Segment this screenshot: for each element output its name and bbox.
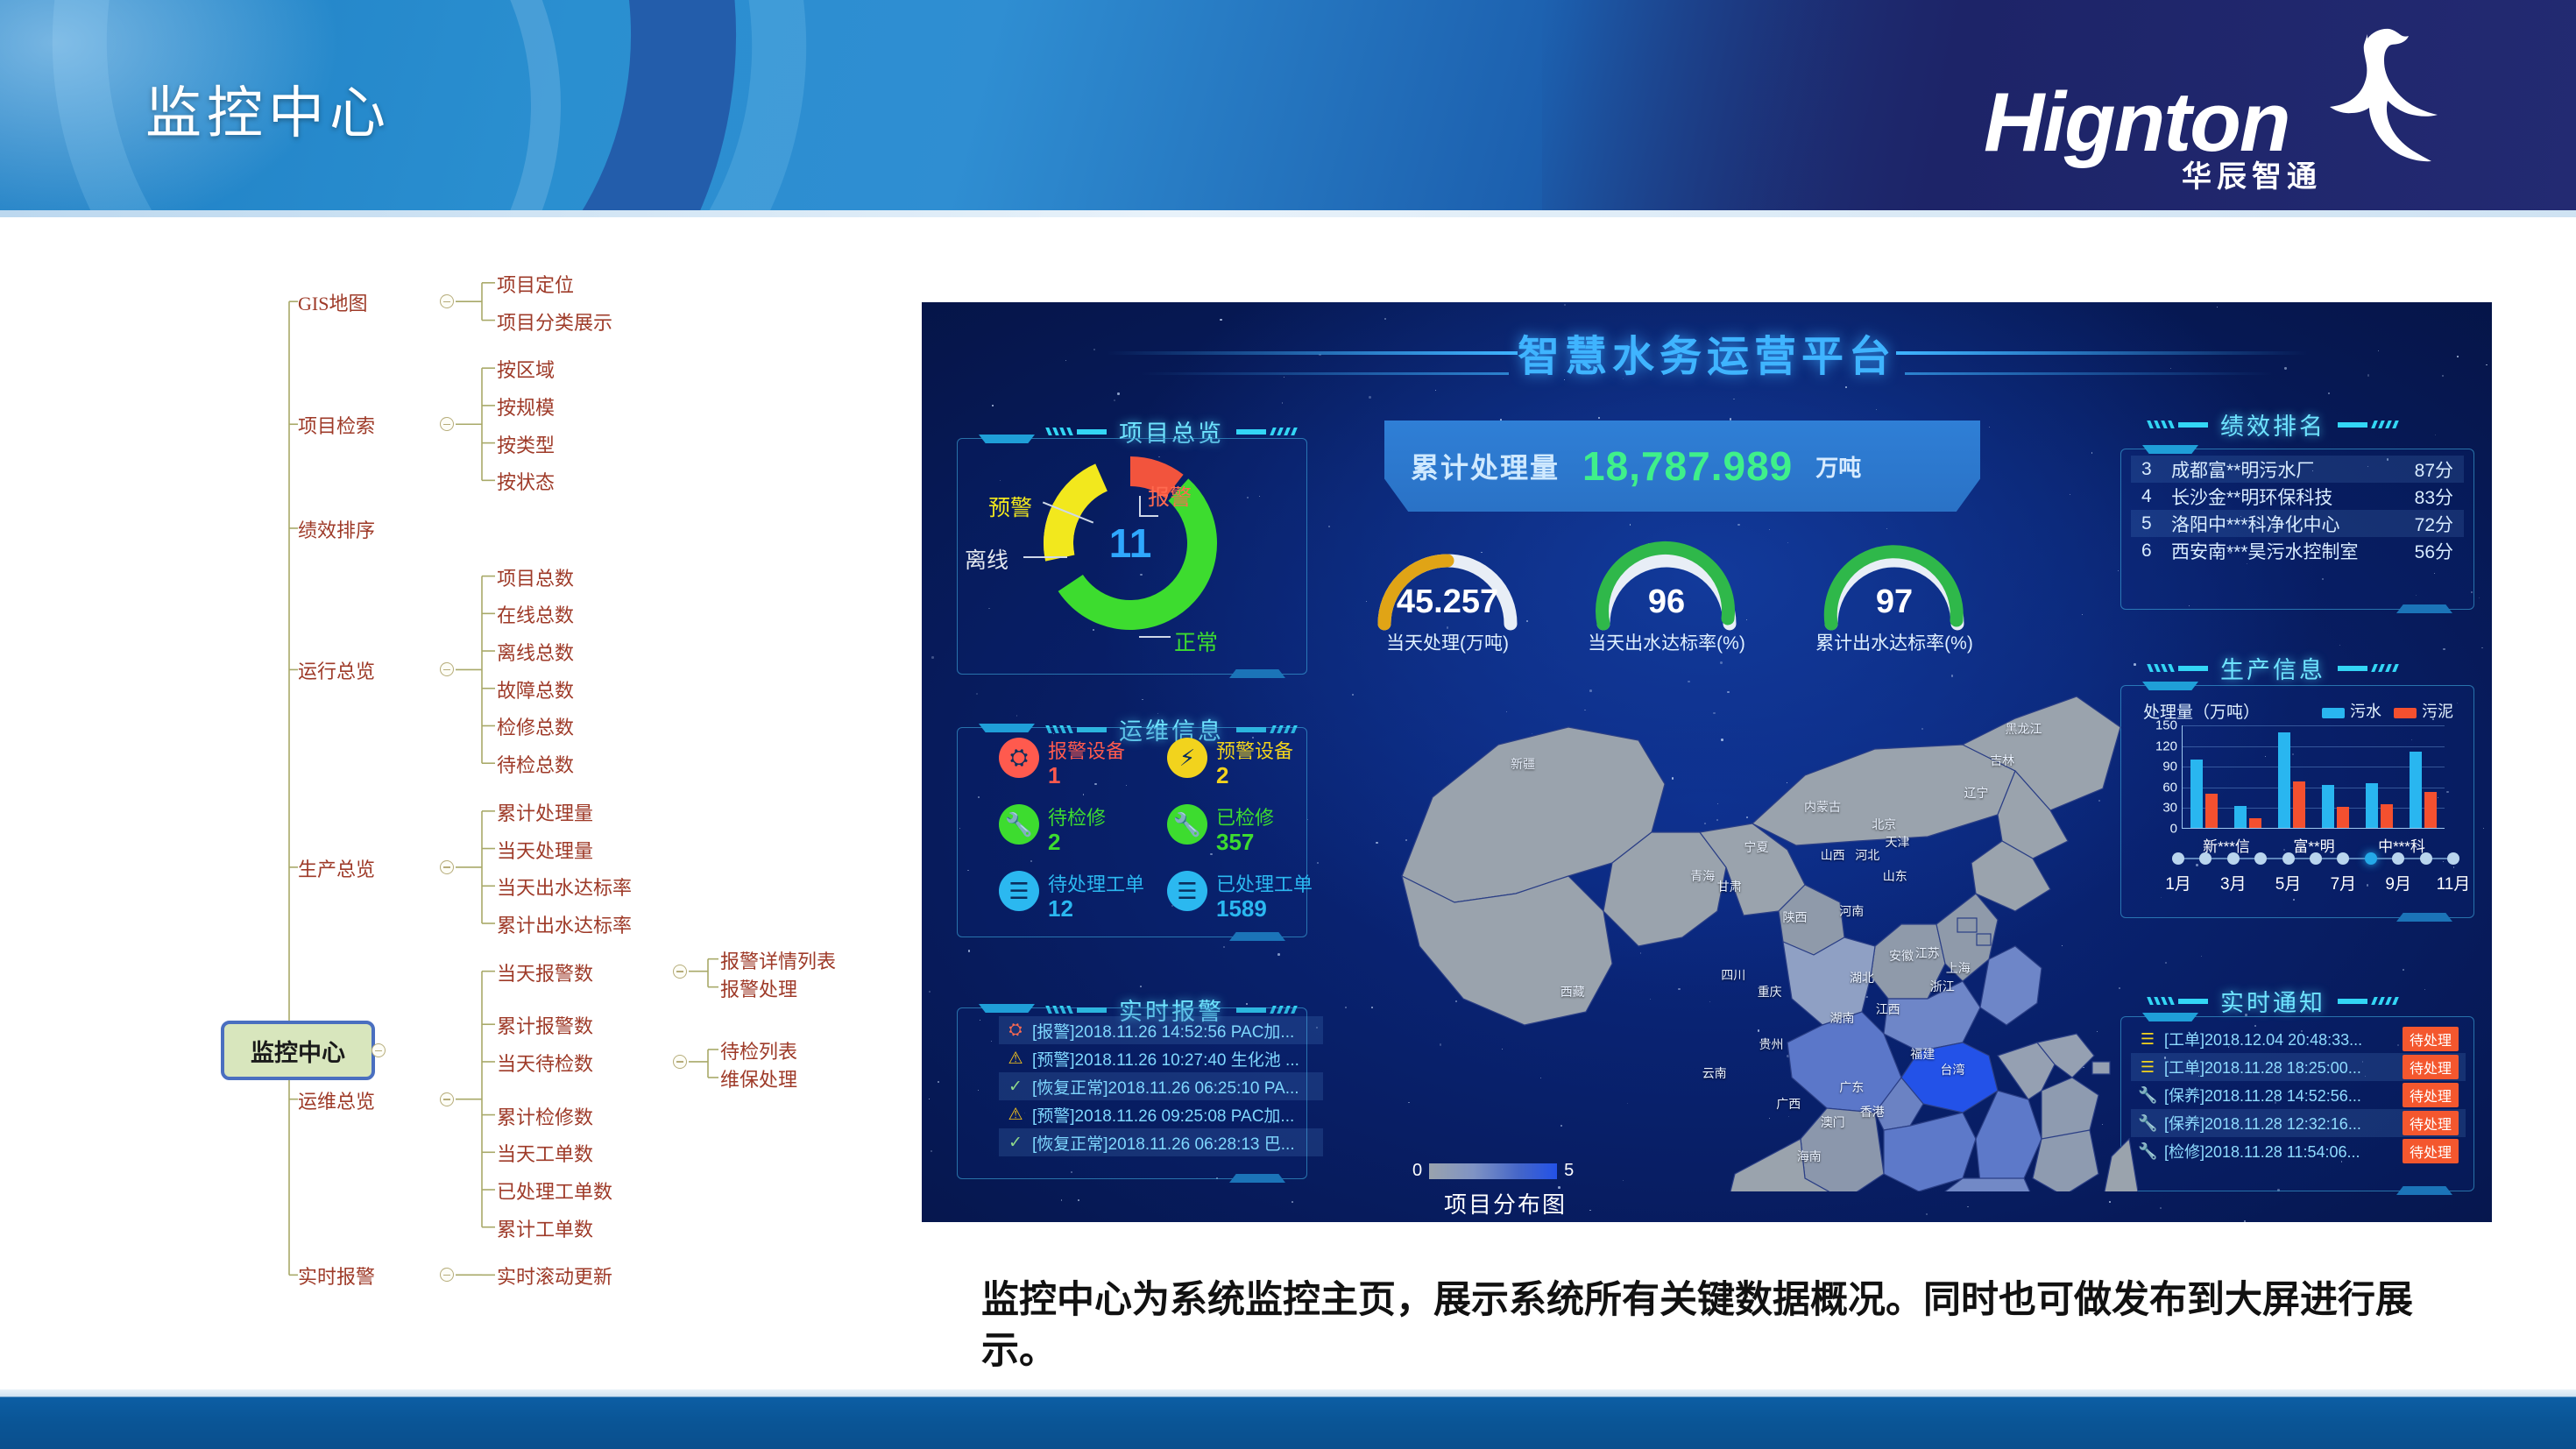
panel-head-rank: 绩效排名 [2106,407,2439,442]
slide-caption: 监控中心为系统监控主页，展示系统所有关键数据概况。同时也可做发布到大屏进行展示。 [981,1275,2471,1376]
panel-head-notice: 实时通知 [2106,984,2439,1018]
mindmap-leaf-4-0[interactable]: 累计处理量 [497,798,593,826]
head-decor-left-icon [2140,419,2208,430]
mindmap-subleaf-5-2-0[interactable]: 待检列表 [720,1036,797,1064]
mindmap-leaf-3-0[interactable]: 项目总数 [497,563,574,591]
panel-title-notice: 实时通知 [2220,984,2325,1018]
mindmap-root-node[interactable]: 监控中心 [221,1021,375,1080]
head-decor-right-icon [2338,995,2406,1007]
mindmap-subleaf-5-0-0[interactable]: 报警详情列表 [720,946,836,974]
panel-title-rank: 绩效排名 [2220,407,2325,442]
head-decor-left-icon [1038,426,1107,437]
dashboard-title: 智慧水务运营平台 [922,322,2492,383]
mindmap-leaf-3-4[interactable]: 检修总数 [497,712,574,740]
panel-head-overview: 项目总览 [1027,414,1316,449]
mindmap-leaf-4-2[interactable]: 当天出水达标率 [497,873,632,901]
head-decor-left-icon [2140,995,2208,1007]
mindmap-subleaf-5-0-1[interactable]: 报警处理 [720,974,797,1002]
logo-chinese-name: 华辰智通 [2182,152,2322,195]
mindmap-leaf-collapse-icon-5-2[interactable] [673,1055,687,1069]
mindmap-leaf-3-1[interactable]: 在线总数 [497,600,574,628]
mindmap-leaf-1-2[interactable]: 按类型 [497,430,555,458]
mindmap-leaf-6-0[interactable]: 实时滚动更新 [497,1262,612,1290]
head-decor-right-icon [2338,662,2406,674]
mindmap-leaf-3-2[interactable]: 离线总数 [497,638,574,666]
mindmap-leaf-5-6[interactable]: 累计工单数 [497,1214,593,1242]
panel-head-ops: 运维信息 [1027,712,1316,746]
mindmap-leaf-0-1[interactable]: 项目分类展示 [497,307,612,336]
head-decor-left-icon [2140,662,2208,674]
panel-title-alarm: 实时报警 [1119,993,1224,1027]
mindmap-leaf-3-5[interactable]: 待检总数 [497,750,574,778]
mindmap-leaf-5-5[interactable]: 已处理工单数 [497,1177,612,1205]
head-decor-right-icon [1236,724,1305,735]
panel-head-alarm: 实时报警 [1027,993,1316,1027]
slide-header: 监控中心 Hignton 华辰智通 [0,0,2576,217]
mindmap-branch-collapse-icon-4[interactable] [440,860,454,874]
mindmap-branch-2[interactable]: 绩效排序 [298,515,375,543]
mindmap-leaf-1-0[interactable]: 按区域 [497,355,555,383]
slide-footer [0,1389,2576,1449]
head-decor-left-icon [1038,1004,1107,1015]
mindmap-leaf-1-3[interactable]: 按状态 [497,467,555,495]
panel-title-production: 生产信息 [2220,651,2325,685]
mindmap-connectors [0,223,929,1389]
mindmap-leaf-4-3[interactable]: 累计出水达标率 [497,910,632,938]
mindmap-leaf-3-3[interactable]: 故障总数 [497,675,574,703]
mindmap-leaf-5-1[interactable]: 累计报警数 [497,1011,593,1039]
mindmap-leaf-1-1[interactable]: 按规模 [497,392,555,421]
mindmap-leaf-5-4[interactable]: 当天工单数 [497,1139,593,1167]
panel-title-overview: 项目总览 [1119,414,1224,449]
mindmap-branch-collapse-icon-5[interactable] [440,1092,454,1106]
mindmap-leaf-5-2[interactable]: 当天待检数 [497,1049,593,1077]
page-title: 监控中心 [145,68,391,149]
mindmap-branch-0[interactable]: GIS地图 [298,288,367,316]
head-decor-left-icon [1038,724,1107,735]
header-underline [0,210,2576,217]
head-decor-right-icon [2338,419,2406,430]
mindmap-leaf-collapse-icon-5-0[interactable] [673,965,687,979]
panel-title-ops: 运维信息 [1119,712,1224,746]
mindmap-branch-4[interactable]: 生产总览 [298,854,375,882]
mindmap-leaf-5-3[interactable]: 累计检修数 [497,1102,593,1130]
head-decor-right-icon [1236,426,1305,437]
mindmap-leaf-5-0[interactable]: 当天报警数 [497,958,593,986]
mindmap-branch-1[interactable]: 项目检索 [298,411,375,439]
mindmap-leaf-0-0[interactable]: 项目定位 [497,270,574,298]
mindmap-subleaf-5-2-1[interactable]: 维保处理 [720,1064,797,1092]
panel-head-production: 生产信息 [2106,651,2439,685]
mindmap: 监控中心 GIS地图项目定位项目分类展示项目检索按区域按规模按类型按状态绩效排序… [0,223,929,1389]
dashboard-screenshot: 智慧水务运营平台 项目总览 运维信息 实时报警 绩效排名 生产信息 实时通知 [922,302,2492,1222]
mindmap-branch-3[interactable]: 运行总览 [298,656,375,684]
mindmap-branch-5[interactable]: 运维总览 [298,1086,375,1114]
mindmap-branch-6[interactable]: 实时报警 [298,1262,375,1290]
company-logo: Hignton 华辰智通 [1966,23,2492,198]
mindmap-root-collapse-icon[interactable] [372,1043,386,1057]
mindmap-leaf-4-1[interactable]: 当天处理量 [497,836,593,864]
head-decor-right-icon [1236,1004,1305,1015]
